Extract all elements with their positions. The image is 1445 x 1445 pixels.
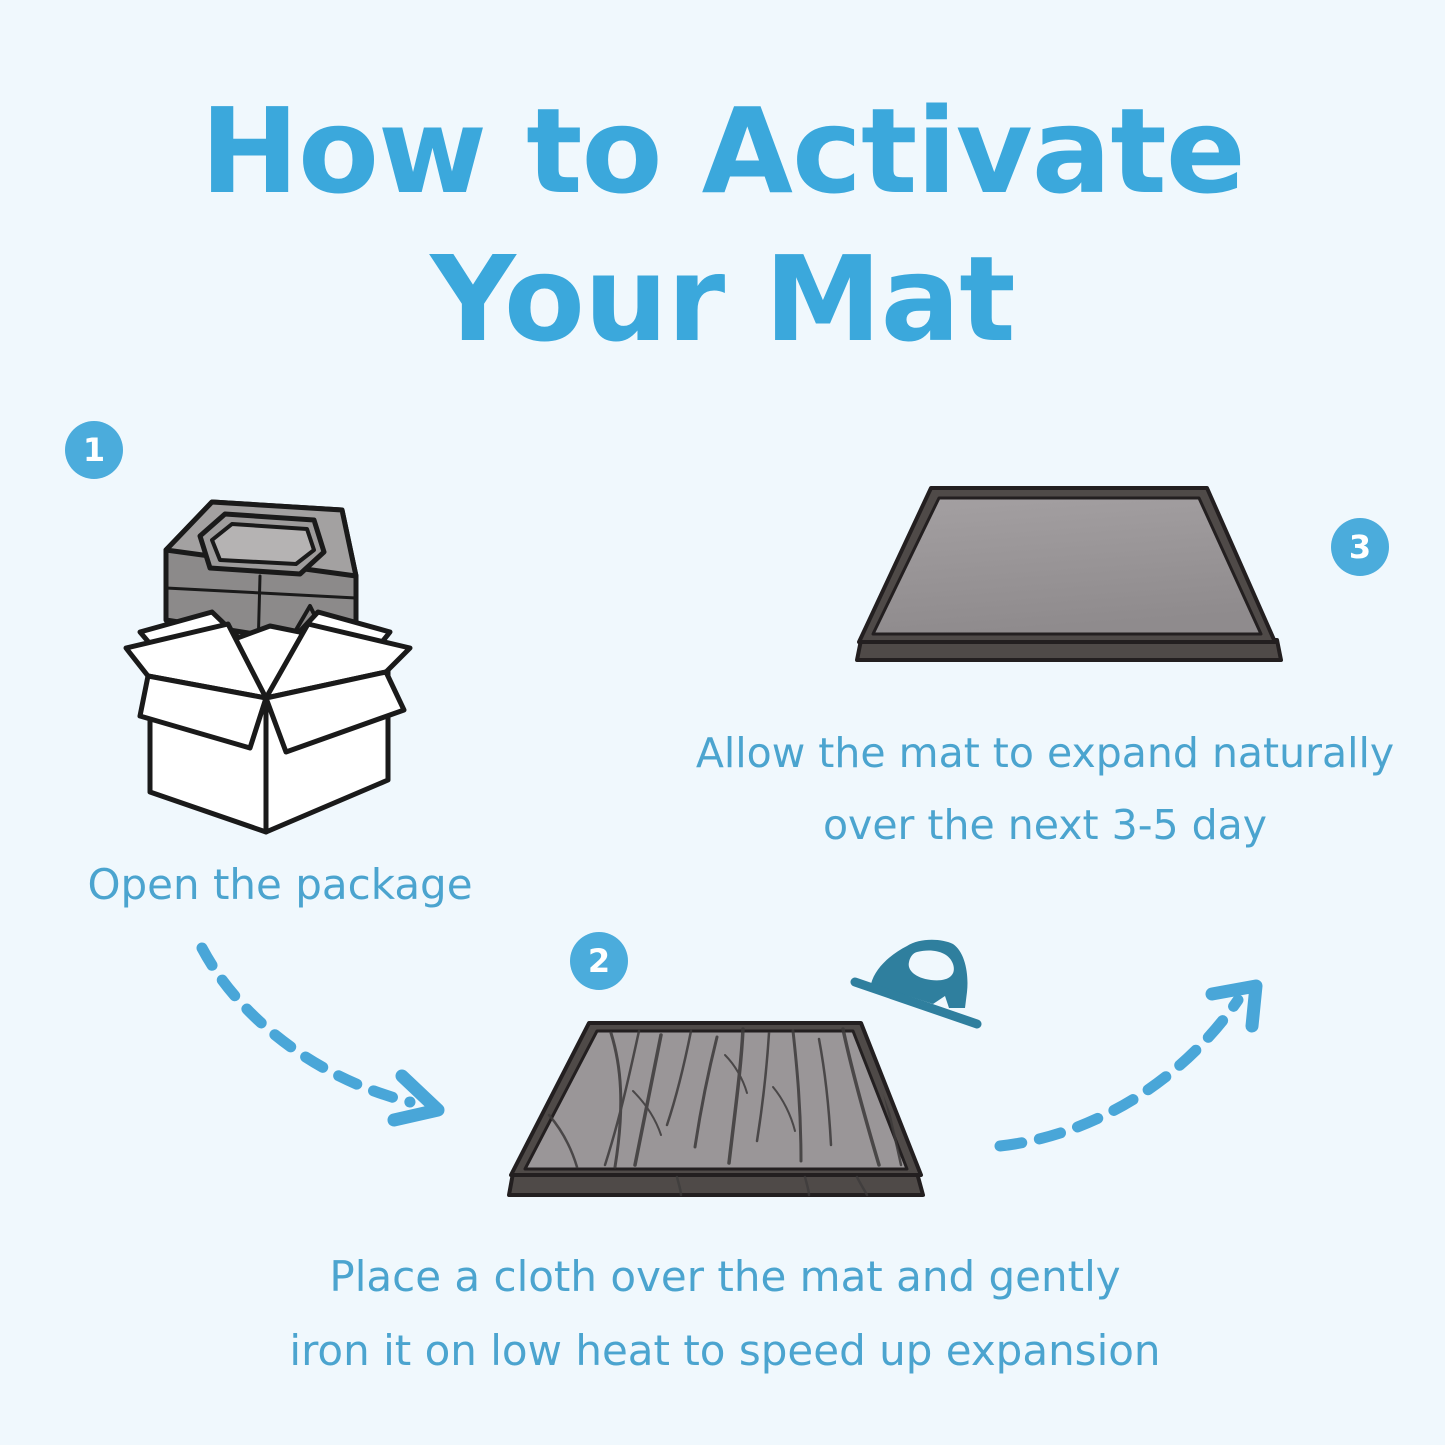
dashed-arrow-step1-to-step2-icon xyxy=(170,930,490,1140)
step-1-caption: Open the package xyxy=(40,848,520,922)
open-box-with-packed-mat-icon xyxy=(100,480,460,840)
expanded-flat-mat-icon xyxy=(835,468,1315,688)
infographic-canvas: How to Activate Your Mat 1 xyxy=(0,0,1445,1445)
page-title-line-2: Your Mat xyxy=(0,226,1445,374)
page-title-line-1: How to Activate xyxy=(200,82,1245,220)
step-2-badge: 2 xyxy=(570,932,628,990)
step-3-badge: 3 xyxy=(1331,518,1389,576)
step-1-badge: 1 xyxy=(65,421,123,479)
step-2-caption: Place a cloth over the mat and gently ir… xyxy=(250,1240,1200,1387)
dashed-arrow-step2-to-step3-icon xyxy=(980,960,1290,1180)
step-3-caption: Allow the mat to expand naturally over t… xyxy=(660,718,1430,862)
page-title: How to Activate Your Mat xyxy=(0,78,1445,373)
mat-with-cloth-icon xyxy=(485,995,955,1225)
